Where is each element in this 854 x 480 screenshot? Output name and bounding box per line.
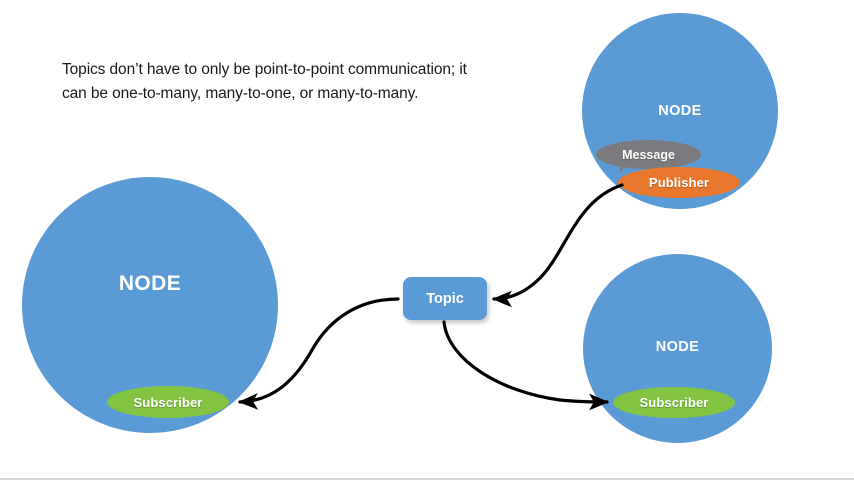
publisher-oval: Publisher xyxy=(618,167,740,198)
subscriber-oval-left: Subscriber xyxy=(107,386,229,418)
subscriber-oval-right: Subscriber xyxy=(613,387,735,418)
node-label-top-right: NODE xyxy=(582,103,778,119)
subscriber-label-left: Subscriber xyxy=(134,395,203,410)
caption-text: Topics don’t have to only be point-to-po… xyxy=(62,58,482,106)
subscriber-label-right: Subscriber xyxy=(640,395,709,410)
node-label-bottom-right: NODE xyxy=(583,339,772,355)
node-label-left: NODE xyxy=(22,272,278,296)
topic-label: Topic xyxy=(426,291,464,307)
publisher-label: Publisher xyxy=(649,175,709,190)
message-bubble: Message xyxy=(596,140,701,169)
message-label: Message xyxy=(622,148,675,162)
arrow-topic-to-right-subscriber xyxy=(444,322,607,402)
message-callout: Message xyxy=(596,140,701,169)
arrow-publisher-to-topic xyxy=(494,185,622,299)
topic-box: Topic xyxy=(403,277,487,320)
diagram-canvas: Topics don’t have to only be point-to-po… xyxy=(0,0,854,480)
